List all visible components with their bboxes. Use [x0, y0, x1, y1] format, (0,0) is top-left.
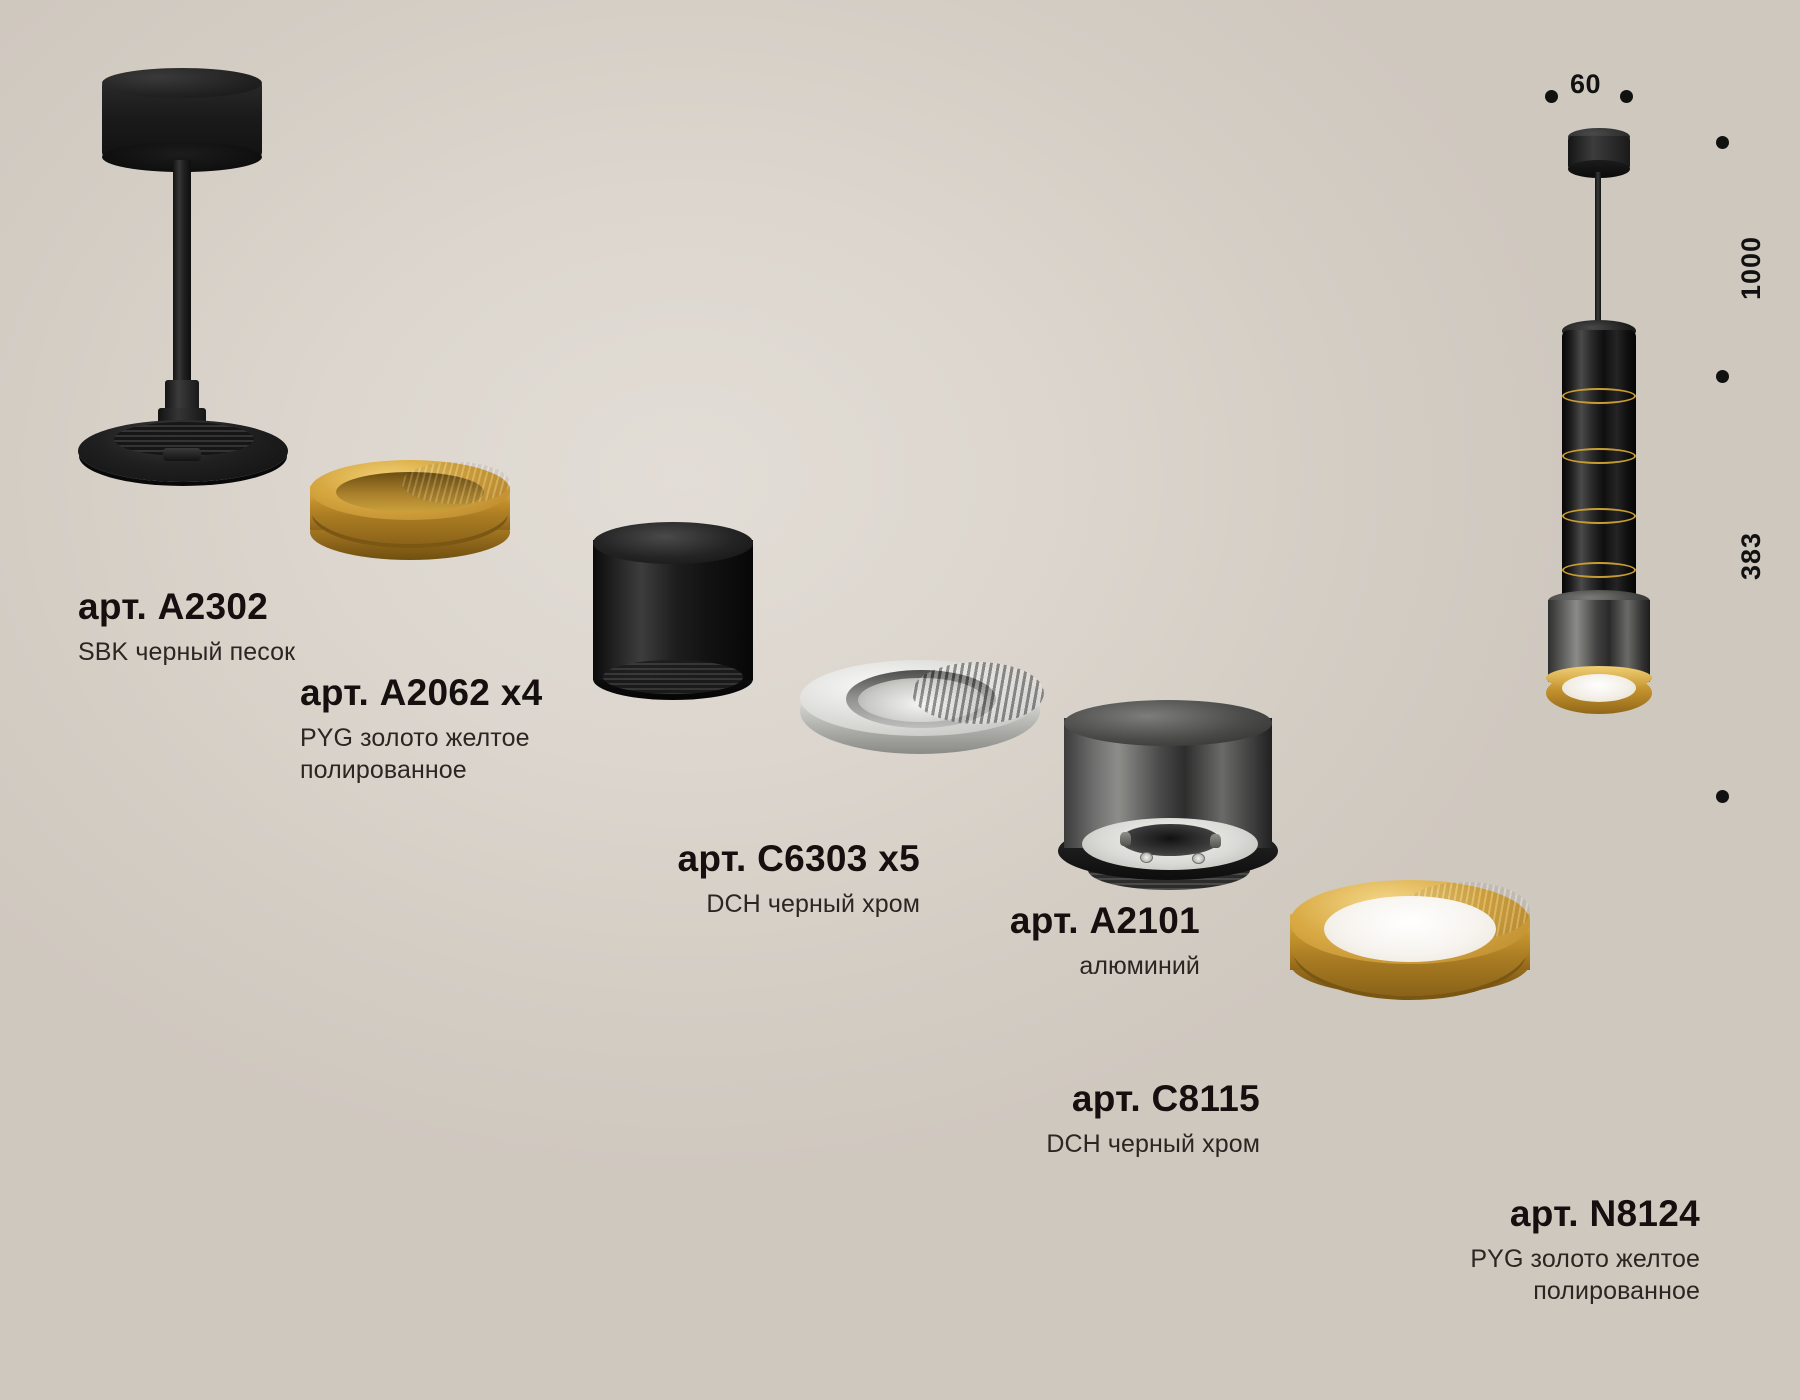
label-desc-c8115: DCH черный хром — [760, 1128, 1260, 1160]
dim-dot-width-right — [1620, 90, 1633, 103]
pendant-gold-ring-4 — [1562, 562, 1636, 578]
pendant-gold-ring-3 — [1562, 508, 1636, 524]
dim-dot-drop-bottom — [1716, 370, 1729, 383]
dim-dot-fixture-bottom — [1716, 790, 1729, 803]
c6303-top-face — [593, 522, 753, 564]
label-c8115: арт. C8115 DCH черный хром — [760, 1080, 1260, 1160]
n8124-diffuser — [1324, 896, 1496, 962]
label-code-n8124: арт. N8124 — [980, 1195, 1700, 1234]
product-image-a2062 — [310, 460, 520, 570]
product-image-c6303 — [585, 520, 765, 710]
product-image-a2302 — [78, 80, 338, 500]
product-image-n8124 — [1290, 880, 1540, 1020]
pendant-suspension-wire — [1595, 172, 1601, 334]
label-code-c6303: арт. C6303 x5 — [300, 840, 920, 879]
label-desc-a2302: SBK черный песок — [78, 636, 295, 668]
product-image-c8115 — [1058, 700, 1288, 910]
c6303-thread — [603, 660, 743, 694]
label-desc-a2062: PYG золото желтое полированное — [300, 722, 543, 786]
label-desc-a2101: алюминий — [560, 950, 1200, 982]
c8115-pin-right — [1210, 834, 1221, 848]
label-code-a2302: арт. A2302 — [78, 588, 295, 627]
c8115-screw-left — [1140, 852, 1153, 863]
label-a2302: арт. A2302 SBK черный песок — [78, 588, 295, 668]
diagram-canvas: арт. A2302 SBK черный песок арт. A2062 x… — [0, 0, 1800, 1400]
a2302-rod — [173, 160, 191, 390]
label-a2062: арт. A2062 x4 PYG золото желтое полирова… — [300, 674, 543, 786]
product-image-a2101 — [800, 660, 1050, 775]
c8115-socket-opening — [1120, 824, 1220, 856]
label-a2101: арт. A2101 алюминий — [560, 902, 1200, 982]
dim-label-width: 60 — [1570, 69, 1601, 100]
a2062-knurl-grooves — [402, 462, 510, 504]
c8115-top-face — [1064, 700, 1272, 746]
label-code-a2062: арт. A2062 x4 — [300, 674, 543, 713]
dim-dot-width-left — [1545, 90, 1558, 103]
label-code-c8115: арт. C8115 — [760, 1080, 1260, 1119]
dim-label-fixture: 383 — [1736, 532, 1767, 580]
a2101-threads — [912, 662, 1044, 724]
assembled-pendant-lamp — [1510, 110, 1740, 810]
c8115-pin-left — [1120, 832, 1131, 846]
pendant-gold-ring-2 — [1562, 448, 1636, 464]
pendant-gold-ring-1 — [1562, 388, 1636, 404]
a2302-cap-top — [102, 68, 262, 98]
label-n8124: арт. N8124 PYG золото желтое полированно… — [980, 1195, 1700, 1307]
pendant-diffuser — [1562, 674, 1636, 702]
dim-label-drop: 1000 — [1736, 236, 1767, 300]
dim-dot-drop-top — [1716, 136, 1729, 149]
label-desc-n8124: PYG золото желтое полированное — [980, 1243, 1700, 1307]
a2302-tab — [163, 448, 201, 461]
c8115-screw-right — [1192, 853, 1205, 864]
